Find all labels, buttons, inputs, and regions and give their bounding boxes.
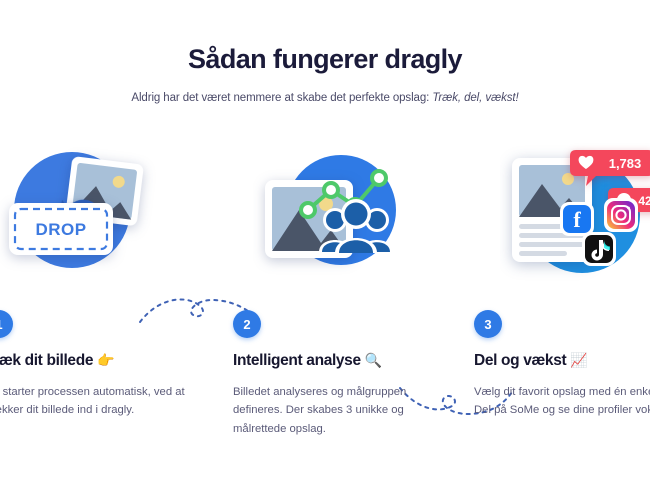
dropzone-box: DROP — [9, 203, 113, 255]
step-2-heading-text: Intelligent analyse — [233, 352, 361, 369]
step-3-heading: Del og vækst 📈 — [474, 352, 650, 370]
step-2: 2 Intelligent analyse 🔍 Billedet analyse… — [233, 310, 448, 438]
share-growth-illustration: 1,783 42 f — [500, 140, 650, 295]
instagram-icon — [604, 198, 638, 232]
step-3-heading-text: Del og vækst — [474, 352, 566, 369]
step-3: 3 Del og vækst 📈 Vælg dit favorit opslag… — [474, 310, 650, 420]
facebook-icon: f — [560, 202, 594, 236]
step-3-body: Vælg dit favorit opslag med én enkelt kl… — [474, 383, 650, 420]
step-3-badge: 3 — [474, 310, 502, 338]
svg-text:f: f — [573, 207, 581, 232]
step-2-badge: 2 — [233, 310, 261, 338]
subtitle-emphasis: Træk, del, vækst! — [432, 92, 518, 104]
magnifier-icon: 🔍 — [365, 352, 382, 368]
page-title: Sådan fungerer dragly — [0, 44, 650, 75]
comments-count: 42 — [638, 194, 650, 208]
step-1-heading: Træk dit billede 👉 — [0, 352, 200, 370]
section-header: Sådan fungerer dragly Aldrig har det vær… — [0, 0, 650, 104]
step-1: 1 Træk dit billede 👉 Du starter processe… — [0, 310, 200, 420]
likes-count: 1,783 — [609, 156, 642, 171]
illustration-band: DROP — [0, 140, 650, 295]
subtitle-lead: Aldrig har det været nemmere at skabe de… — [131, 92, 432, 104]
dropzone-label: DROP — [35, 220, 86, 239]
tiktok-icon — [582, 232, 616, 266]
drag-image-illustration: DROP — [0, 140, 170, 295]
step-1-badge: 1 — [0, 310, 13, 338]
pointing-hand-icon: 👉 — [97, 352, 114, 368]
step-2-heading: Intelligent analyse 🔍 — [233, 352, 448, 370]
step-2-body: Billedet analyseres og målgruppen define… — [233, 383, 438, 438]
analysis-illustration — [253, 148, 428, 303]
step-1-heading-text: Træk dit billede — [0, 352, 93, 369]
chart-increasing-icon: 📈 — [570, 352, 587, 368]
page-subtitle: Aldrig har det været nemmere at skabe de… — [0, 92, 650, 104]
step-1-body: Du starter processen automatisk, ved at … — [0, 383, 190, 420]
